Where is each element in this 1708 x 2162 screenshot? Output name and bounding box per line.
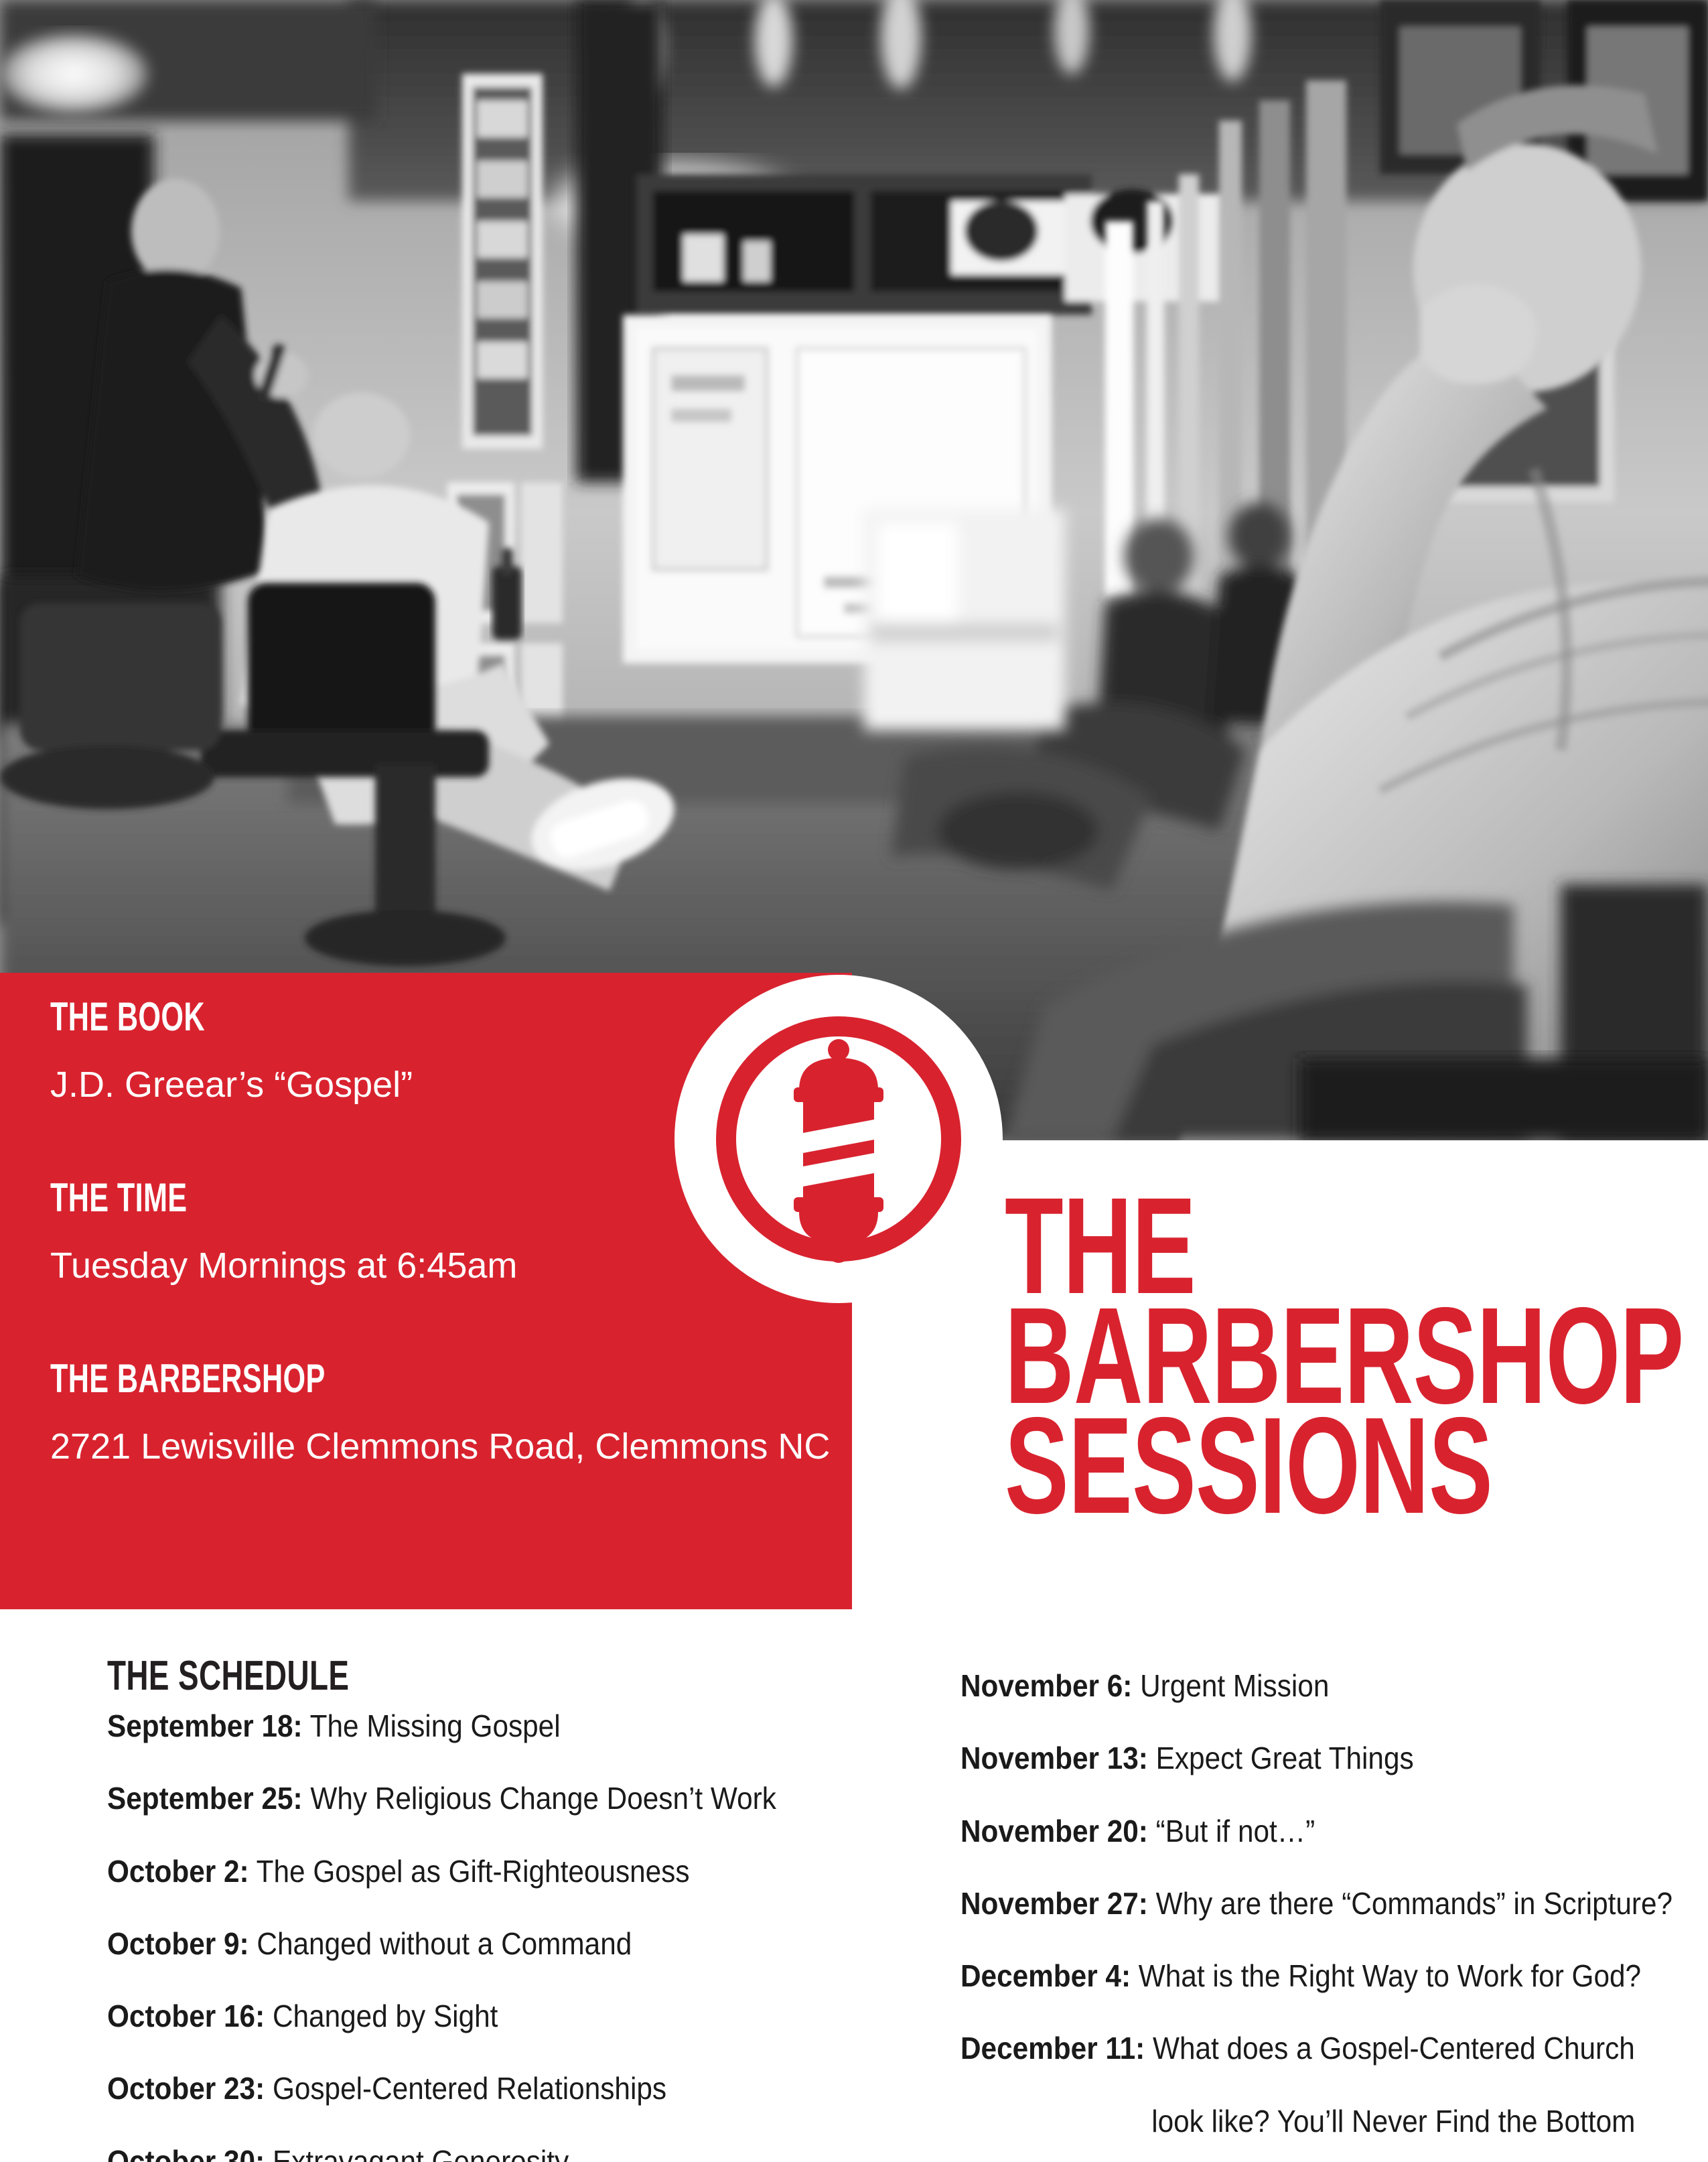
- schedule-item-topic: Urgent Mission: [1132, 1668, 1329, 1703]
- schedule-section: THE SCHEDULE September 18: The Missing G…: [0, 1609, 1708, 2162]
- schedule-item: November 20: “But if not…”: [960, 1815, 1638, 1847]
- schedule-item-date: September 25:: [107, 1781, 303, 1816]
- schedule-item-topic: Why are there “Commands” in Scripture?: [1148, 1886, 1673, 1921]
- schedule-item-topic: What is the Right Way to Work for God?: [1131, 1958, 1641, 1993]
- detail-the-time: THE TIME Tuesday Mornings at 6:45am: [50, 1178, 517, 1284]
- schedule-item: October 30: Extravagant Generosity: [107, 2145, 835, 2162]
- barber-pole-logo: [674, 975, 1003, 1303]
- schedule-item-topic: The Missing Gospel: [303, 1708, 561, 1743]
- schedule-item: November 6: Urgent Mission: [960, 1670, 1638, 1702]
- schedule-item: September 25: Why Religious Change Doesn…: [107, 1782, 835, 1814]
- schedule-item-date: October 9:: [107, 1926, 249, 1961]
- detail-value-book: J.D. Greear’s “Gospel”: [50, 1067, 413, 1103]
- schedule-item-topic: Gospel-Centered Relationships: [265, 2071, 666, 2106]
- schedule-item: October 2: The Gospel as Gift-Righteousn…: [107, 1855, 835, 1887]
- schedule-item: October 16: Changed by Sight: [107, 2000, 835, 2032]
- detail-the-book: THE BOOK J.D. Greear’s “Gospel”: [50, 997, 413, 1103]
- schedule-item-date: October 2:: [107, 1854, 249, 1889]
- schedule-item: October 9: Changed without a Command: [107, 1928, 835, 1960]
- schedule-item-date: November 27:: [960, 1886, 1148, 1921]
- schedule-item-date: November 6:: [960, 1668, 1132, 1703]
- schedule-item-date: November 20:: [960, 1814, 1148, 1848]
- schedule-item: October 23: Gospel-Centered Relationship…: [107, 2072, 835, 2104]
- schedule-item-topic: Changed without a Command: [249, 1926, 632, 1961]
- schedule-item: December 4: What is the Right Way to Wor…: [960, 1960, 1638, 1992]
- schedule-item-topic: Changed by Sight: [265, 1999, 498, 2033]
- schedule-item-date: December 11:: [960, 2031, 1145, 2066]
- barber-pole-icon: [674, 975, 1003, 1303]
- barbershop-photo-illustration: [0, 0, 1708, 1140]
- schedule-item: November 13: Expect Great Things: [960, 1742, 1638, 1774]
- schedule-item-date: October 23:: [107, 2071, 265, 2106]
- schedule-item-topic: Extravagant Generosity: [265, 2144, 569, 2162]
- schedule-item-date: October 16:: [107, 1999, 265, 2033]
- flyer-page: THE BOOK J.D. Greear’s “Gospel” THE TIME…: [0, 0, 1708, 2162]
- title-line-3: SESSIONS: [1005, 1411, 1488, 1521]
- detail-the-barbershop: THE BARBERSHOP 2721 Lewisville Clemmons …: [50, 1359, 830, 1465]
- detail-label-book: THE BOOK: [50, 997, 311, 1037]
- page-title: THE BARBERSHOP SESSIONS: [1005, 1191, 1695, 1521]
- schedule-column-left: September 18: The Missing Gospel Septemb…: [107, 1710, 898, 2162]
- hero-photo: [0, 0, 1708, 1140]
- schedule-item-topic: Why Religious Change Doesn’t Work: [303, 1781, 776, 1816]
- schedule-item-topic: “But if not…”: [1148, 1814, 1315, 1848]
- schedule-item-topic: What does a Gospel-Centered Church: [1145, 2031, 1635, 2066]
- schedule-item-date: December 4:: [960, 1958, 1131, 1993]
- schedule-column-right: November 6: Urgent Mission November 13: …: [960, 1670, 1697, 2162]
- schedule-item-continuation: look like? You’ll Never Find the Bottom: [960, 2105, 1638, 2137]
- schedule-item-date: September 18:: [107, 1708, 303, 1743]
- schedule-item-date: November 13:: [960, 1741, 1148, 1775]
- schedule-item-date: October 30:: [107, 2144, 265, 2162]
- schedule-heading: THE SCHEDULE: [107, 1652, 349, 1700]
- schedule-item-topic: The Gospel as Gift-Righteousness: [249, 1854, 690, 1889]
- schedule-item: September 18: The Missing Gospel: [107, 1710, 835, 1742]
- schedule-item: December 11: What does a Gospel-Centered…: [960, 2032, 1638, 2064]
- schedule-item-topic: Expect Great Things: [1148, 1741, 1414, 1775]
- detail-value-barbershop: 2721 Lewisville Clemmons Road, Clemmons …: [50, 1428, 830, 1465]
- schedule-item: November 27: Why are there “Commands” in…: [960, 1887, 1638, 1919]
- detail-label-time: THE TIME: [50, 1178, 386, 1218]
- detail-label-barbershop: THE BARBERSHOP: [50, 1359, 612, 1399]
- detail-value-time: Tuesday Mornings at 6:45am: [50, 1247, 517, 1284]
